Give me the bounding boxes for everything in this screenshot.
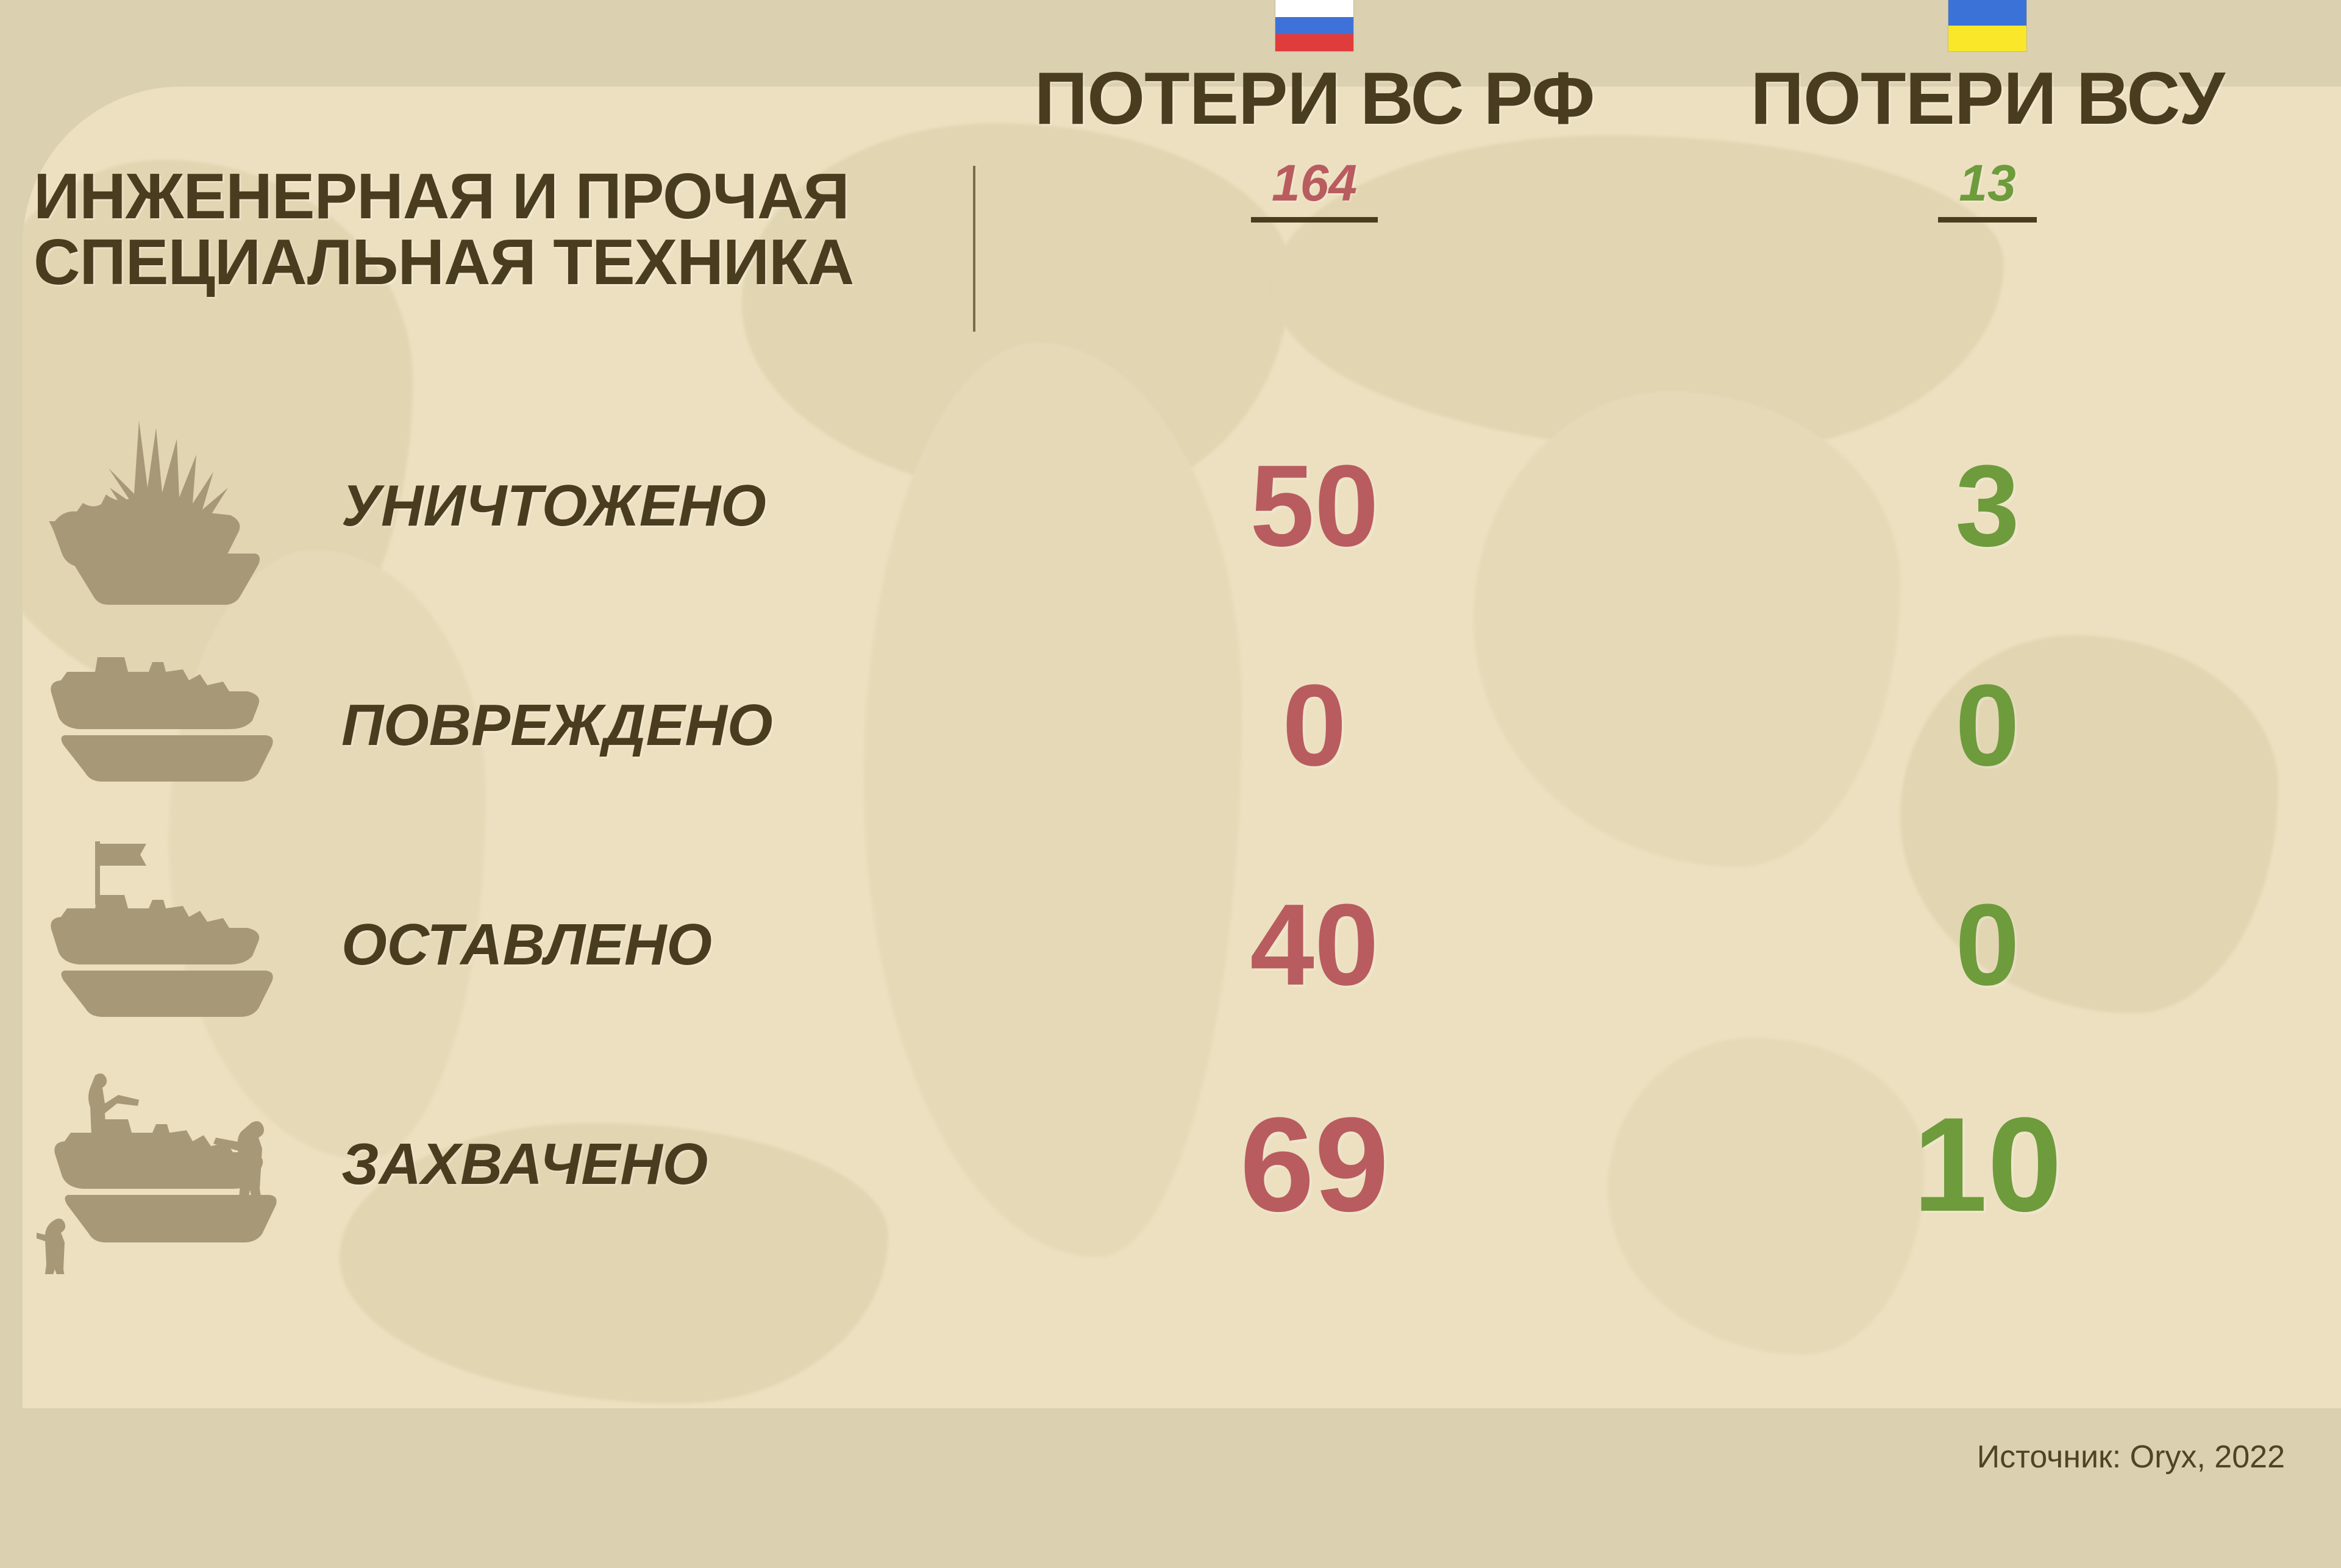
flag-russia-icon	[1275, 0, 1353, 51]
column-total-ukraine: 13	[1938, 157, 2036, 223]
table-row: ЗАХВАЧЕНО 69 10	[0, 1055, 2341, 1274]
row-value-russia: 69	[973, 1055, 1656, 1274]
page-title: ИНЖЕНЕРНАЯ И ПРОЧАЯ СПЕЦИАЛЬНАЯ ТЕХНИКА	[34, 163, 966, 295]
column-header-russia: ПОТЕРИ ВС РФ 164	[973, 0, 1656, 223]
damaged-vehicle-icon	[37, 616, 341, 835]
table-row: ПОВРЕЖДЕНО 0 0	[0, 616, 2341, 835]
row-label: ПОВРЕЖДЕНО	[341, 616, 772, 835]
flag-ukraine-icon	[1948, 0, 2026, 51]
header: ИНЖЕНЕРНАЯ И ПРОЧАЯ СПЕЦИАЛЬНАЯ ТЕХНИКА …	[0, 0, 2341, 341]
source-attribution: Источник: Oryx, 2022	[1977, 1439, 2285, 1475]
row-value-ukraine: 0	[1646, 835, 2329, 1055]
row-label: ЗАХВАЧЕНО	[341, 1055, 708, 1274]
column-total-russia: 164	[1251, 157, 1378, 223]
row-value-russia: 0	[973, 616, 1656, 835]
column-label-ukraine: ПОТЕРИ ВСУ	[1646, 61, 2329, 135]
column-header-ukraine: ПОТЕРИ ВСУ 13	[1646, 0, 2329, 223]
captured-vehicle-soldiers-icon	[37, 1055, 341, 1274]
row-value-russia: 50	[973, 396, 1656, 616]
abandoned-vehicle-flag-icon	[37, 835, 341, 1055]
page-title-line-1: ИНЖЕНЕРНАЯ И ПРОЧАЯ	[34, 160, 849, 232]
row-value-ukraine: 10	[1646, 1055, 2329, 1274]
row-label: ОСТАВЛЕНО	[341, 835, 712, 1055]
column-label-russia: ПОТЕРИ ВС РФ	[973, 61, 1656, 135]
row-label: УНИЧТОЖЕНО	[341, 396, 766, 616]
row-value-ukraine: 0	[1646, 616, 2329, 835]
infographic-frame: ИНЖЕНЕРНАЯ И ПРОЧАЯ СПЕЦИАЛЬНАЯ ТЕХНИКА …	[0, 0, 2341, 1568]
row-value-ukraine: 3	[1646, 396, 2329, 616]
destroyed-vehicle-explosion-icon	[37, 396, 341, 616]
table-row: УНИЧТОЖЕНО 50 3	[0, 396, 2341, 616]
row-value-russia: 40	[973, 835, 1656, 1055]
table-row: ОСТАВЛЕНО 40 0	[0, 835, 2341, 1055]
page-title-line-2: СПЕЦИАЛЬНАЯ ТЕХНИКА	[34, 229, 966, 295]
